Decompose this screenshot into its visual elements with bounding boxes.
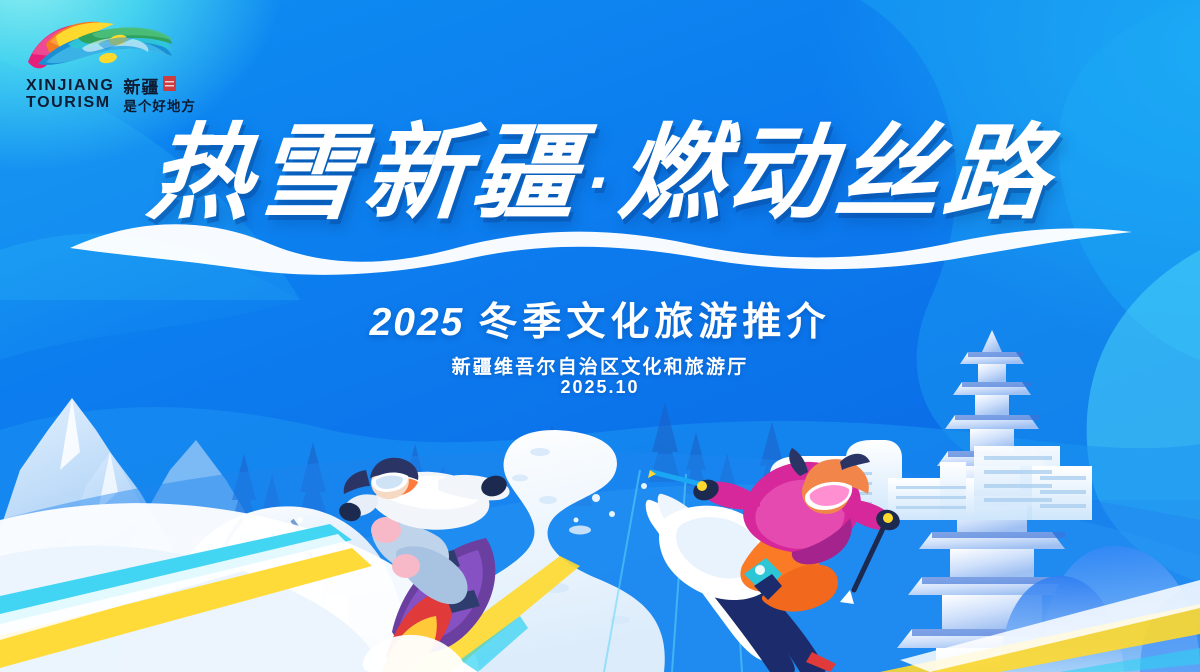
subtitle-text: 冬季文化旅游推介	[478, 301, 830, 344]
xinjiang-tourism-logo[interactable]: XINJIANG TOURISM 新疆 是个好地方	[22, 14, 222, 114]
organizer-line: 新疆维吾尔自治区文化和旅游厅	[0, 352, 1200, 379]
date-line: 2025.10	[0, 377, 1200, 398]
logo-chinese-line1: 新疆	[123, 78, 196, 97]
headline-swoosh-ribbon	[60, 196, 1140, 276]
logo-chinese-text: 新疆 是个好地方	[123, 78, 196, 114]
red-seal-icon	[163, 76, 176, 91]
logo-english-line1: XINJIANG	[26, 78, 114, 95]
subtitle: 2025冬季文化旅游推介	[0, 291, 1200, 347]
logo-english-text: XINJIANG TOURISM	[26, 78, 114, 112]
logo-english-line2: TOURISM	[26, 95, 114, 112]
subtitle-year: 2025	[370, 301, 465, 344]
poster-canvas: XINJIANG TOURISM 新疆 是个好地方 热雪新疆·燃动丝路 2025…	[0, 0, 1200, 672]
ribbon-emblem-icon	[22, 14, 172, 74]
logo-chinese-line2: 是个好地方	[123, 99, 196, 114]
